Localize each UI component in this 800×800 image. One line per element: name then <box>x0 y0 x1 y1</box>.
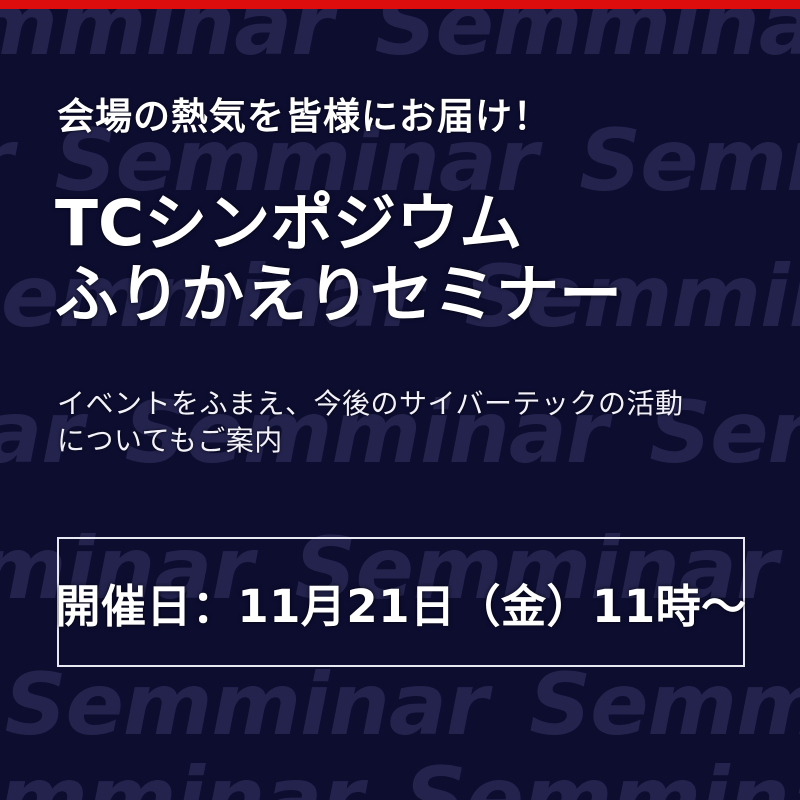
event-date-box: 開催日：11月21日（金）11時〜 <box>57 537 745 667</box>
title-line-2: ふりかえりセミナー <box>55 259 622 330</box>
subtitle: イベントをふまえ、今後のサイバーテックの活動 についてもご案内 <box>57 386 683 460</box>
headline-text: 会場の熱気を皆様にお届け！ <box>57 96 551 139</box>
subtitle-line-2: についてもご案内 <box>57 423 683 460</box>
title-line-1: TCシンポジウム <box>55 188 622 259</box>
poster-content: 会場の熱気を皆様にお届け！ TCシンポジウム ふりかえりセミナー イベントをふま… <box>0 0 800 800</box>
event-date-text: 開催日：11月21日（金）11時〜 <box>55 570 746 635</box>
seminar-poster: SemminarSemminarSemminarSemminarSemminar… <box>0 0 800 800</box>
top-accent-bar <box>0 0 800 9</box>
subtitle-line-1: イベントをふまえ、今後のサイバーテックの活動 <box>57 386 683 423</box>
page-title: TCシンポジウム ふりかえりセミナー <box>55 188 622 330</box>
